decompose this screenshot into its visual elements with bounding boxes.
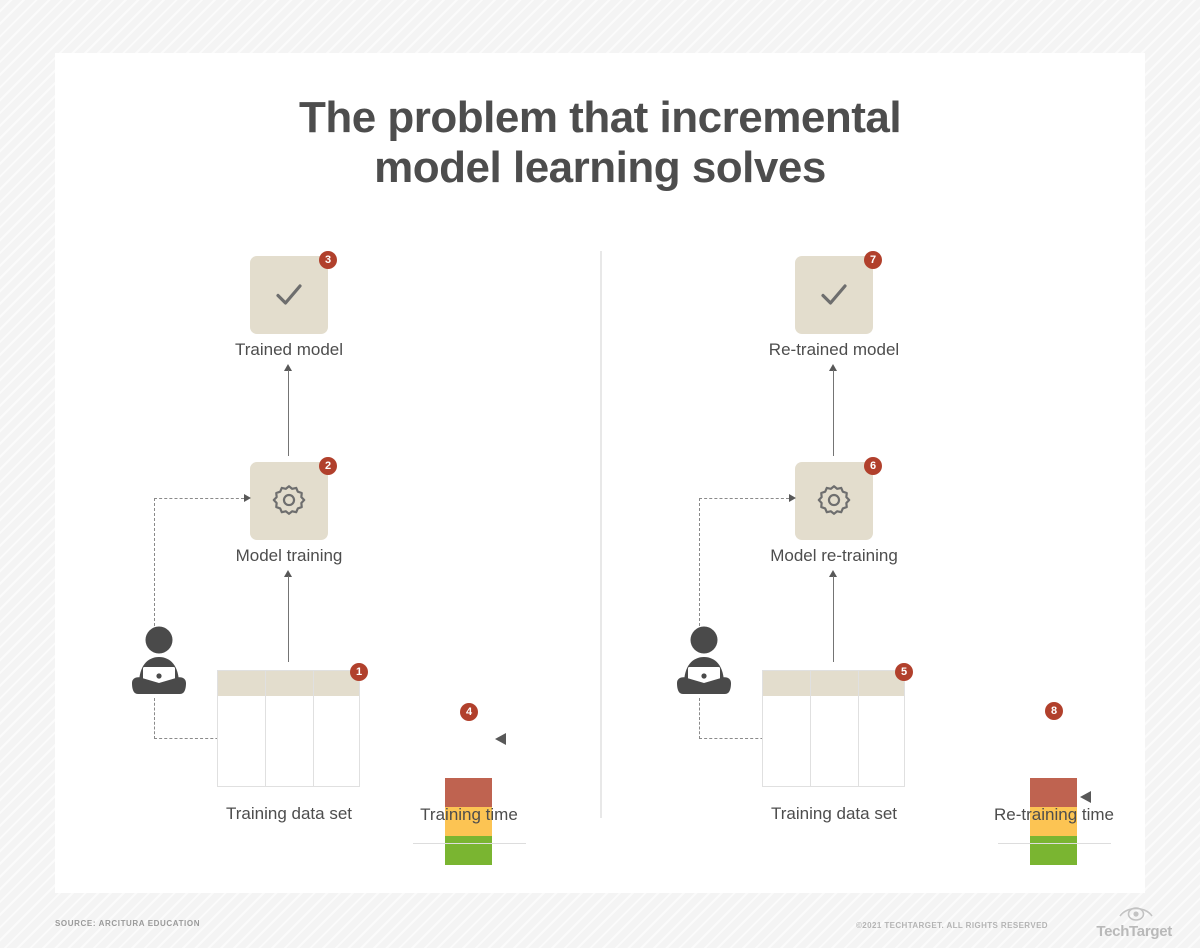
badge-7: 7 — [864, 251, 882, 269]
retraining-time-bar[interactable] — [1030, 725, 1077, 843]
copyright-notice: ©2021 TECHTARGET. ALL RIGHTS RESERVED — [856, 921, 1048, 930]
arrow-retraining-to-model — [829, 364, 838, 456]
training-time-marker — [495, 733, 506, 745]
model-retraining-caption: Model re-training — [694, 546, 974, 566]
panel-incremental-retraining: 7 Re-trained model 6 Model re-training — [600, 53, 1145, 893]
time-segment-high — [445, 778, 492, 807]
dash-person-to-training — [154, 498, 244, 499]
table-header-row — [763, 671, 904, 696]
table-header-row — [218, 671, 359, 696]
check-icon — [269, 275, 309, 315]
time-segment-low — [1030, 836, 1077, 865]
trained-model-caption: Trained model — [149, 340, 429, 360]
table-column-divider — [810, 671, 811, 786]
badge-1: 1 — [350, 663, 368, 681]
retraining-time-marker — [1080, 791, 1091, 803]
time-segment-low — [445, 836, 492, 865]
dash-person-up — [699, 498, 700, 626]
arrow-training-to-model — [284, 364, 293, 456]
dash-person-down — [154, 698, 155, 739]
retrained-model-tile[interactable] — [795, 256, 873, 334]
panel-initial-training: 3 Trained model 2 Model training — [55, 53, 600, 893]
badge-3: 3 — [319, 251, 337, 269]
trained-model-tile[interactable] — [250, 256, 328, 334]
model-retraining-tile[interactable] — [795, 462, 873, 540]
person-with-laptop-icon — [128, 626, 190, 703]
gear-icon — [815, 482, 853, 520]
retraining-time-caption: Re-training time — [914, 805, 1194, 825]
badge-4: 4 — [460, 703, 478, 721]
arrow-dataset-to-retraining — [829, 570, 838, 662]
gear-icon — [270, 482, 308, 520]
badge-5: 5 — [895, 663, 913, 681]
training-time-baseline — [413, 843, 526, 844]
training-time-bar[interactable] — [445, 725, 492, 843]
dash-head-retraining — [789, 494, 796, 502]
retraining-time-baseline — [998, 843, 1111, 844]
table-column-divider — [313, 671, 314, 786]
dash-person-to-retraining — [699, 498, 789, 499]
dash-person-down — [699, 698, 700, 739]
table-column-divider — [858, 671, 859, 786]
badge-8: 8 — [1045, 702, 1063, 720]
time-segment-high — [1030, 778, 1077, 807]
techtarget-wordmark: TechTarget — [1054, 923, 1172, 940]
badge-2: 2 — [319, 457, 337, 475]
table-column-divider — [265, 671, 266, 786]
source-credit: SOURCE: ARCITURA EDUCATION — [55, 919, 200, 928]
model-training-caption: Model training — [149, 546, 429, 566]
dash-head-training — [244, 494, 251, 502]
dash-person-up — [154, 498, 155, 626]
training-data-set-table[interactable] — [217, 670, 360, 787]
infographic-card: The problem that incremental model learn… — [55, 53, 1145, 893]
retrained-model-caption: Re-trained model — [694, 340, 974, 360]
techtarget-logo[interactable]: TechTarget — [1054, 903, 1172, 943]
arrow-dataset-to-training — [284, 570, 293, 662]
badge-6: 6 — [864, 457, 882, 475]
training-data-set-table[interactable] — [762, 670, 905, 787]
check-icon — [814, 275, 854, 315]
training-time-caption: Training time — [329, 805, 609, 825]
model-training-tile[interactable] — [250, 462, 328, 540]
person-with-laptop-icon — [673, 626, 735, 703]
